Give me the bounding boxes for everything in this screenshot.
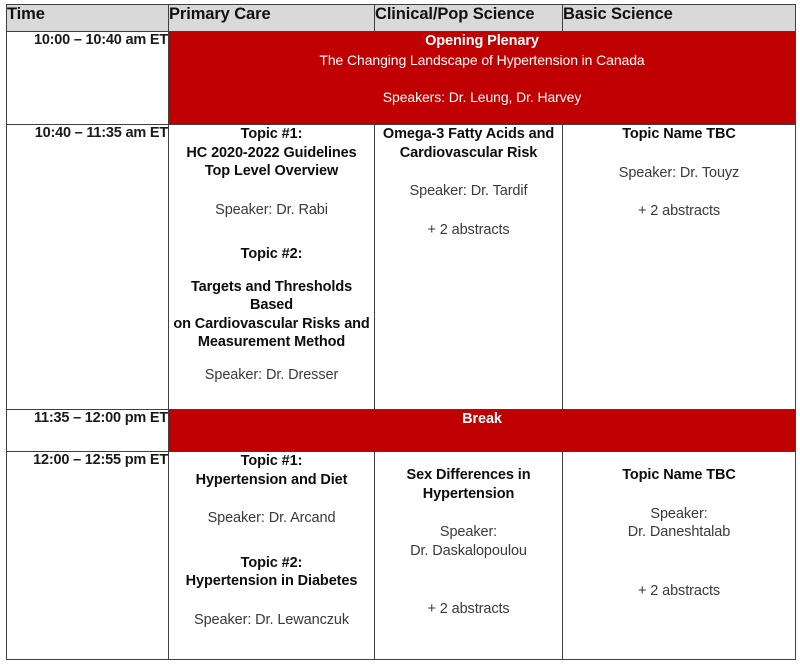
spacer [563, 144, 795, 164]
spacer [563, 452, 795, 466]
table-header-row: Time Primary Care Clinical/Pop Science B… [7, 5, 796, 32]
column-header-time: Time [7, 5, 169, 32]
abstracts-count: + 2 abstracts [563, 582, 795, 601]
spacer [375, 452, 562, 466]
topic-2-label: Topic #2: [169, 554, 374, 573]
topic-2-title-line-3: Measurement Method [169, 333, 374, 352]
topic-speaker-label: Speaker: [375, 523, 562, 542]
topic-title-line-2: Hypertension [375, 485, 562, 504]
time-slot-cell: 10:00 – 10:40 am ET [7, 32, 169, 125]
time-slot-cell: 12:00 – 12:55 pm ET [7, 452, 169, 660]
session-cell-clinical-pop-science: Sex Differences in Hypertension Speaker:… [375, 452, 563, 660]
plenary-subtitle: The Changing Landscape of Hypertension i… [169, 51, 795, 69]
plenary-speakers: Speakers: Dr. Leung, Dr. Harvey [169, 88, 795, 106]
topic-2-speaker: Speaker: Dr. Dresser [169, 366, 374, 385]
topic-speaker-name: Dr. Daneshtalab [563, 523, 795, 542]
session-cell-primary-care: Topic #1: Hypertension and Diet Speaker:… [169, 452, 375, 660]
topic-1-speaker: Speaker: Dr. Arcand [169, 509, 374, 528]
topic-2-speaker: Speaker: Dr. Lewanczuk [169, 611, 374, 630]
break-banner-cell: Break [169, 410, 796, 452]
table-row: 12:00 – 12:55 pm ET Topic #1: Hypertensi… [7, 452, 796, 660]
topic-1-label: Topic #1: [169, 125, 374, 144]
session-cell-clinical-pop-science: Omega-3 Fatty Acids and Cardiovascular R… [375, 125, 563, 410]
table-row: 10:00 – 10:40 am ET Opening Plenary The … [7, 32, 796, 125]
topic-2-title-line-1: Hypertension in Diabetes [169, 572, 374, 591]
topic-speaker: Speaker: Dr. Touyz [563, 164, 795, 183]
table-row: 11:35 – 12:00 pm ET Break [7, 410, 796, 452]
topic-1-title-line-1: Hypertension and Diet [169, 471, 374, 490]
abstracts-count: + 2 abstracts [563, 202, 795, 221]
topic-speaker-name: Dr. Daskalopoulou [375, 542, 562, 561]
column-header-clinical-pop-science: Clinical/Pop Science [375, 5, 563, 32]
topic-2-title-line-1: Targets and Thresholds Based [169, 278, 374, 315]
table-row: 10:40 – 11:35 am ET Topic #1: HC 2020-20… [7, 125, 796, 410]
topic-2-title-line-2: on Cardiovascular Risks and [169, 315, 374, 334]
spacer [563, 542, 795, 582]
topic-1-speaker: Speaker: Dr. Rabi [169, 201, 374, 220]
spacer [375, 503, 562, 523]
spacer [169, 69, 795, 88]
spacer [169, 264, 374, 278]
column-header-basic-science: Basic Science [563, 5, 796, 32]
topic-title-line-1: Topic Name TBC [563, 125, 795, 144]
topic-1-label: Topic #1: [169, 452, 374, 471]
topic-speaker: Speaker: Dr. Tardif [375, 182, 562, 201]
topic-title-line-2: Cardiovascular Risk [375, 144, 562, 163]
topic-speaker-label: Speaker: [563, 505, 795, 524]
session-cell-basic-science: Topic Name TBC Speaker: Dr. Daneshtalab … [563, 452, 796, 660]
spacer [169, 489, 374, 509]
topic-title-line-1: Omega-3 Fatty Acids and [375, 125, 562, 144]
time-slot-cell: 11:35 – 12:00 pm ET [7, 410, 169, 452]
spacer [375, 201, 562, 221]
break-title: Break [169, 410, 795, 429]
topic-1-title-line-2: Top Level Overview [169, 162, 374, 181]
session-cell-primary-care: Topic #1: HC 2020-2022 Guidelines Top Le… [169, 125, 375, 410]
spacer [169, 591, 374, 611]
spacer [375, 162, 562, 182]
time-slot-cell: 10:40 – 11:35 am ET [7, 125, 169, 410]
topic-title-line-1: Topic Name TBC [563, 466, 795, 485]
agenda-table: Time Primary Care Clinical/Pop Science B… [6, 4, 796, 660]
abstracts-count: + 2 abstracts [375, 600, 562, 619]
abstracts-count: + 2 abstracts [375, 221, 562, 240]
session-cell-basic-science: Topic Name TBC Speaker: Dr. Touyz + 2 ab… [563, 125, 796, 410]
spacer [169, 528, 374, 554]
topic-1-title-line-1: HC 2020-2022 Guidelines [169, 144, 374, 163]
spacer [169, 352, 374, 366]
spacer [169, 181, 374, 201]
plenary-banner-cell: Opening Plenary The Changing Landscape o… [169, 32, 796, 125]
plenary-title: Opening Plenary [169, 32, 795, 51]
spacer [375, 560, 562, 600]
column-header-primary-care: Primary Care [169, 5, 375, 32]
agenda-table-container: Time Primary Care Clinical/Pop Science B… [6, 4, 795, 660]
topic-title-line-1: Sex Differences in [375, 466, 562, 485]
spacer [169, 219, 374, 245]
topic-2-label: Topic #2: [169, 245, 374, 264]
spacer [563, 485, 795, 505]
spacer [563, 182, 795, 202]
